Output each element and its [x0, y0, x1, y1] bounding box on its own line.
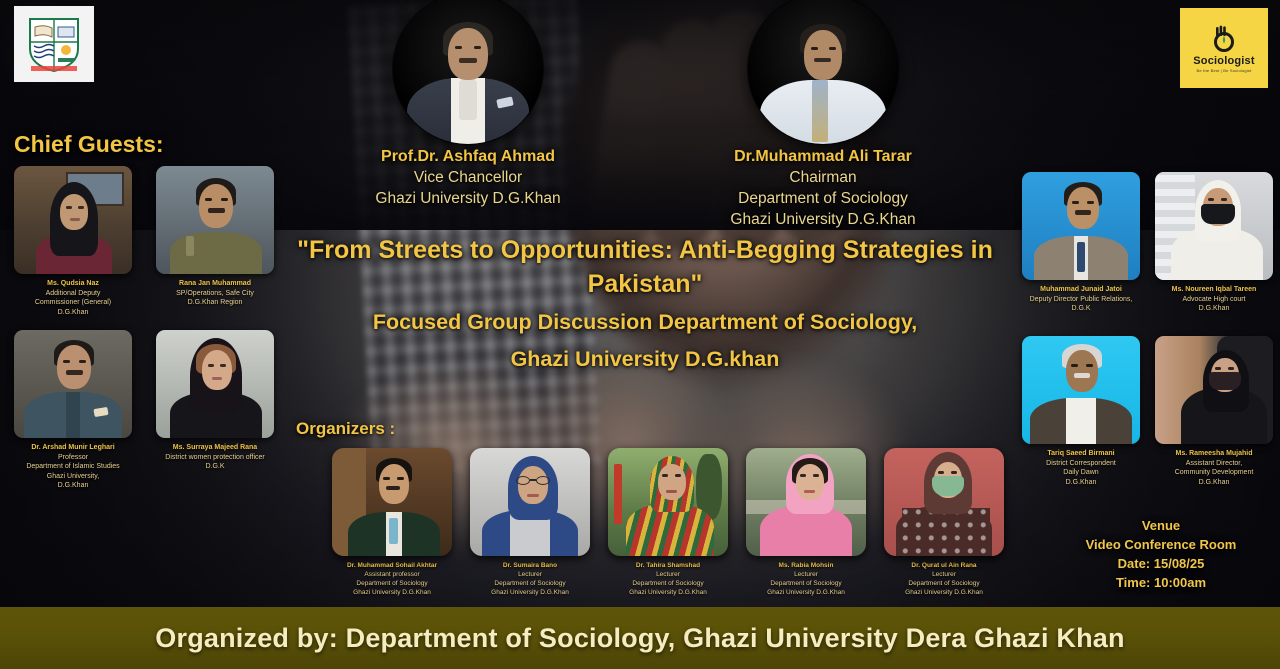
chief-guest-left-1-line1: Additional Deputy	[46, 290, 101, 297]
event-title-line-2: Pakistan"	[270, 267, 1020, 301]
organizer-2-photo	[470, 448, 590, 556]
chief-guest-left-4-line2: D.G.K	[205, 463, 224, 470]
chief-guest-left-2: Rana Jan Muhammad SP/Operations, Safe Ci…	[156, 166, 274, 308]
organizer-1-line3: Ghazi University D.G.Khan	[353, 589, 431, 596]
organizer-3-line1: Lecturer	[656, 571, 680, 578]
organizer-5-photo	[884, 448, 1004, 556]
chief-guest-right-1: Muhammad Junaid Jatoi Deputy Director Pu…	[1022, 172, 1140, 314]
chief-guest-right-1-line1: Deputy Director Public Relations,	[1030, 296, 1133, 303]
chief-guest-left-1-line3: D.G.Khan	[58, 309, 89, 316]
chief-guest-left-4-photo	[156, 330, 274, 438]
organizer-2: Dr. Sumaira Bano Lecturer Department of …	[470, 448, 590, 597]
organizer-4-line2: Department of Sociology	[770, 580, 841, 587]
chief-guest-right-1-photo	[1022, 172, 1140, 280]
organizer-4: Ms. Rabia Mohsin Lecturer Department of …	[746, 448, 866, 597]
chief-guest-right-1-caption: Muhammad Junaid Jatoi Deputy Director Pu…	[1022, 285, 1140, 314]
sociologist-logo: Sociologist Be the Best | Be Sociologist	[1180, 8, 1268, 88]
organizer-1-name: Dr. Muhammad Sohail Akhtar	[332, 561, 452, 570]
organizer-4-name: Ms. Rabia Mohsin	[746, 561, 866, 570]
chief-guest-left-3-photo	[14, 330, 132, 438]
chief-guest-left-4-caption: Ms. Surraya Majeed Rana District women p…	[156, 443, 274, 472]
chief-guest-left-1: Ms. Qudsia Naz Additional Deputy Commiss…	[14, 166, 132, 317]
chief-guest-left-1-caption: Ms. Qudsia Naz Additional Deputy Commiss…	[14, 279, 132, 317]
organizer-4-line3: Ghazi University D.G.Khan	[767, 589, 845, 596]
chief-guest-right-4-line2: Community Development	[1175, 469, 1254, 476]
headline-guest-1-role: Vice Chancellor	[318, 167, 618, 188]
headline-guest-2-dept: Department of Sociology	[673, 188, 973, 209]
university-logo	[14, 6, 94, 82]
organizer-5-line2: Department of Sociology	[908, 580, 979, 587]
organizer-4-photo	[746, 448, 866, 556]
chief-guest-right-3-line3: D.G.Khan	[1066, 479, 1097, 486]
organizer-5-caption: Dr. Qurat ul Ain Rana Lecturer Departmen…	[884, 561, 1004, 597]
organizer-5-name: Dr. Qurat ul Ain Rana	[884, 561, 1004, 570]
chief-guest-right-2-photo	[1155, 172, 1273, 280]
organizer-3-caption: Dr. Tahira Shamshad Lecturer Department …	[608, 561, 728, 597]
chief-guest-right-4: Ms. Rameesha Mujahid Assistant Director,…	[1155, 336, 1273, 487]
university-crest-icon	[25, 13, 83, 75]
chief-guest-left-3-caption: Dr. Arshad Munir Leghari Professor Depar…	[14, 443, 132, 491]
event-subtitle-line-1: Focused Group Discussion Department of S…	[270, 307, 1020, 338]
organizer-2-line2: Department of Sociology	[494, 580, 565, 587]
chief-guest-right-2-line2: D.G.Khan	[1199, 305, 1230, 312]
chief-guests-heading: Chief Guests:	[14, 131, 164, 158]
chief-guest-right-3-photo	[1022, 336, 1140, 444]
chief-guest-right-4-photo	[1155, 336, 1273, 444]
organizer-3: Dr. Tahira Shamshad Lecturer Department …	[608, 448, 728, 597]
headline-guest-1-name: Prof.Dr. Ashfaq Ahmad	[318, 146, 618, 167]
organizer-3-line3: Ghazi University D.G.Khan	[629, 589, 707, 596]
headline-guest-2-role: Chairman	[673, 167, 973, 188]
headline-guest-caption-2: Dr.Muhammad Ali Tarar Chairman Departmen…	[673, 146, 973, 230]
venue-value: Video Conference Room	[1066, 535, 1256, 554]
headline-guest-2-org: Ghazi University D.G.Khan	[673, 209, 973, 230]
chief-guest-left-4-name: Ms. Surraya Majeed Rana	[156, 443, 274, 453]
chief-guest-right-1-name: Muhammad Junaid Jatoi	[1022, 285, 1140, 295]
organizer-3-name: Dr. Tahira Shamshad	[608, 561, 728, 570]
headline-guest-photo-2	[748, 0, 898, 144]
organizer-5-line3: Ghazi University D.G.Khan	[905, 589, 983, 596]
organizer-1-photo	[332, 448, 452, 556]
organizer-4-caption: Ms. Rabia Mohsin Lecturer Department of …	[746, 561, 866, 597]
event-time: Time: 10:00am	[1066, 573, 1256, 592]
chief-guest-right-1-line2: D.G.K	[1071, 305, 1090, 312]
chief-guest-right-4-line3: D.G.Khan	[1199, 479, 1230, 486]
organizer-4-line1: Lecturer	[794, 571, 818, 578]
chief-guest-left-2-line2: D.G.Khan Region	[188, 299, 243, 306]
chief-guest-left-2-line1: SP/Operations, Safe City	[176, 290, 254, 297]
headline-guest-photo-1	[393, 0, 543, 144]
event-details: Venue Video Conference Room Date: 15/08/…	[1066, 516, 1256, 592]
chief-guest-right-4-name: Ms. Rameesha Mujahid	[1155, 449, 1273, 459]
chief-guest-left-2-photo	[156, 166, 274, 274]
event-title-line-1: "From Streets to Opportunities: Anti-Beg…	[270, 233, 1020, 267]
event-poster: Sociologist Be the Best | Be Sociologist…	[0, 0, 1280, 669]
headline-guest-2-name: Dr.Muhammad Ali Tarar	[673, 146, 973, 167]
chief-guest-left-2-name: Rana Jan Muhammad	[156, 279, 274, 289]
event-date: Date: 15/08/25	[1066, 554, 1256, 573]
organizer-5-line1: Lecturer	[932, 571, 956, 578]
venue-label: Venue	[1066, 516, 1256, 535]
chief-guest-right-2-line1: Advocate High court	[1182, 296, 1245, 303]
chief-guest-left-3-line1: Professor	[58, 454, 88, 461]
chief-guest-left-3-line4: D.G.Khan	[58, 482, 89, 489]
chief-guest-right-4-line1: Assistant Director,	[1186, 460, 1242, 467]
sociologist-logo-word: Sociologist	[1193, 55, 1254, 67]
organized-by-text: Organized by: Department of Sociology, G…	[155, 623, 1124, 654]
organizer-2-line3: Ghazi University D.G.Khan	[491, 589, 569, 596]
chief-guest-right-3-name: Tariq Saeed Birmani	[1022, 449, 1140, 459]
headline-guest-1-org: Ghazi University D.G.Khan	[318, 188, 618, 209]
chief-guest-left-4-line1: District women protection officer	[165, 454, 264, 461]
chief-guest-left-4: Ms. Surraya Majeed Rana District women p…	[156, 330, 274, 472]
chief-guest-left-3: Dr. Arshad Munir Leghari Professor Depar…	[14, 330, 132, 491]
chief-guest-left-3-line2: Department of Islamic Studies	[26, 463, 119, 470]
chief-guest-right-4-caption: Ms. Rameesha Mujahid Assistant Director,…	[1155, 449, 1273, 487]
organizer-1: Dr. Muhammad Sohail Akhtar Assistant pro…	[332, 448, 452, 597]
chief-guest-right-2: Ms. Noureen Iqbal Tareen Advocate High c…	[1155, 172, 1273, 314]
organizer-2-caption: Dr. Sumaira Bano Lecturer Department of …	[470, 561, 590, 597]
chief-guest-right-2-caption: Ms. Noureen Iqbal Tareen Advocate High c…	[1155, 285, 1273, 314]
organizer-2-line1: Lecturer	[518, 571, 542, 578]
organizer-3-photo	[608, 448, 728, 556]
organizer-3-line2: Department of Sociology	[632, 580, 703, 587]
organizer-1-caption: Dr. Muhammad Sohail Akhtar Assistant pro…	[332, 561, 452, 597]
chief-guest-left-2-caption: Rana Jan Muhammad SP/Operations, Safe Ci…	[156, 279, 274, 308]
chief-guest-right-3-caption: Tariq Saeed Birmani District Corresponde…	[1022, 449, 1140, 487]
organizer-5: Dr. Qurat ul Ain Rana Lecturer Departmen…	[884, 448, 1004, 597]
chief-guest-left-1-photo	[14, 166, 132, 274]
chief-guest-right-3-line2: Daily Dawn	[1063, 469, 1098, 476]
chief-guest-right-3-line1: District Correspondent	[1046, 460, 1116, 467]
chief-guest-left-3-name: Dr. Arshad Munir Leghari	[14, 443, 132, 453]
organizer-1-line2: Department of Sociology	[356, 580, 427, 587]
event-subtitle-line-2: Ghazi University D.G.khan	[270, 344, 1020, 375]
organized-by-banner: Organized by: Department of Sociology, G…	[0, 607, 1280, 669]
chief-guest-left-1-line2: Commissioner (General)	[35, 299, 111, 306]
organizers-heading: Organizers :	[296, 419, 395, 439]
event-title: "From Streets to Opportunities: Anti-Beg…	[270, 233, 1020, 375]
organizer-2-name: Dr. Sumaira Bano	[470, 561, 590, 570]
chief-guest-right-3: Tariq Saeed Birmani District Corresponde…	[1022, 336, 1140, 487]
sociologist-logo-tagline: Be the Best | Be Sociologist	[1197, 68, 1252, 73]
organizer-1-line1: Assistant professor	[364, 571, 419, 578]
chief-guest-left-3-line3: Ghazi University,	[47, 473, 99, 480]
ok-hand-icon	[1209, 24, 1239, 54]
headline-guest-caption-1: Prof.Dr. Ashfaq Ahmad Vice Chancellor Gh…	[318, 146, 618, 209]
chief-guest-left-1-name: Ms. Qudsia Naz	[14, 279, 132, 289]
chief-guest-right-2-name: Ms. Noureen Iqbal Tareen	[1155, 285, 1273, 295]
